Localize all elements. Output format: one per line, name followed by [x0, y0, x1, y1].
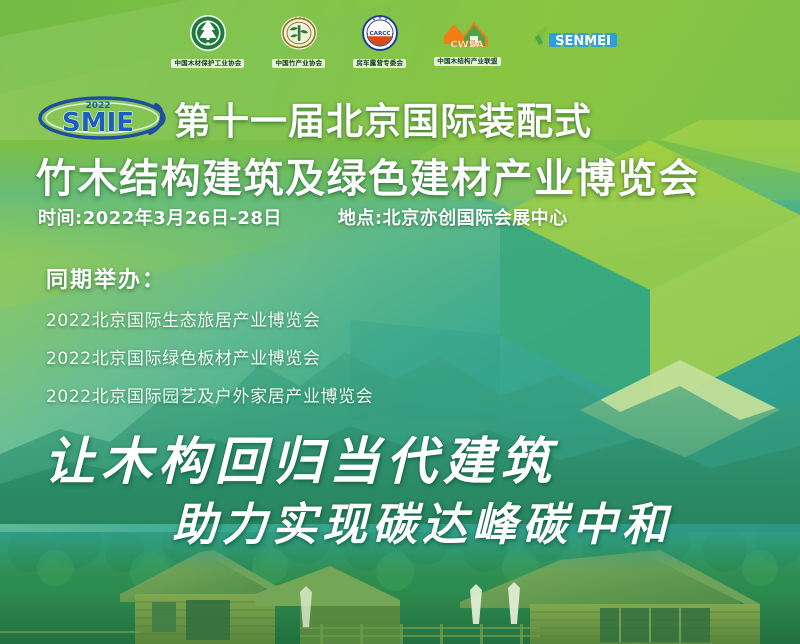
svg-text:SENMEI: SENMEI	[555, 34, 611, 49]
event-venue: 地点:北京亦创国际会展中心	[338, 204, 568, 230]
logo-china-wood-structure-industry-alliance: CWSA 中国木结构产业联盟	[434, 16, 500, 66]
smie-wordmark: SMIE	[62, 108, 134, 138]
title-block: 2022 SMIE 第十一届北京国际装配式 竹木结构建筑及绿色建材产业博览会	[0, 92, 800, 204]
logo-bamboo-industry-association: 中国竹产业协会	[272, 14, 325, 68]
title-line-1: 第十一届北京国际装配式	[174, 91, 592, 145]
slogan-line-2: 助力实现碳达峰碳中和	[172, 488, 672, 553]
concurrent-events-section: 同期举办： 2022北京国际生态旅居产业博览会 2022北京国际绿色板材产业博览…	[46, 262, 606, 420]
logo-label-1: 中国竹产业协会	[272, 59, 325, 68]
tree-shield-icon	[189, 14, 227, 57]
exhibition-promo-banner: 中国木材保护工业协会	[0, 0, 800, 644]
association-logo-row: 中国木材保护工业协会	[0, 10, 800, 72]
logo-label-2: 房车露营专委会	[353, 59, 406, 68]
svg-text:CWSA: CWSA	[451, 40, 485, 51]
concurrent-events-heading: 同期举办：	[46, 262, 606, 294]
logo-china-wood-protection-industry-association: 中国木材保护工业协会	[171, 14, 244, 68]
logo-rv-camping-committee: CARCC 房车露营专委会	[353, 14, 406, 68]
concurrent-event-item: 2022北京国际绿色板材产业博览会	[46, 344, 606, 369]
smie-logo: 2022 SMIE	[38, 95, 166, 141]
concurrent-event-item: 2022北京国际园艺及户外家居产业博览会	[46, 382, 606, 407]
svg-text:CARCC: CARCC	[369, 31, 390, 37]
bamboo-seal-icon	[280, 14, 318, 57]
logo-label-0: 中国木材保护工业协会	[171, 59, 244, 68]
event-date: 时间:2022年3月26日-28日	[38, 204, 282, 230]
event-meta-row: 时间:2022年3月26日-28日 地点:北京亦创国际会展中心	[38, 204, 778, 230]
logo-senmei: SENMEI	[529, 23, 629, 60]
concurrent-event-item: 2022北京国际生态旅居产业博览会	[46, 306, 606, 331]
title-line-2: 竹木结构建筑及绿色建材产业博览会	[0, 146, 800, 204]
senmei-wordmark-icon: SENMEI	[529, 23, 629, 60]
house-roof-icon: CWSA	[440, 16, 494, 55]
carcc-badge-icon: CARCC	[361, 14, 399, 57]
logo-label-3: 中国木结构产业联盟	[434, 57, 500, 66]
slogan-line-1: 让木构回归当代建筑	[44, 420, 557, 494]
